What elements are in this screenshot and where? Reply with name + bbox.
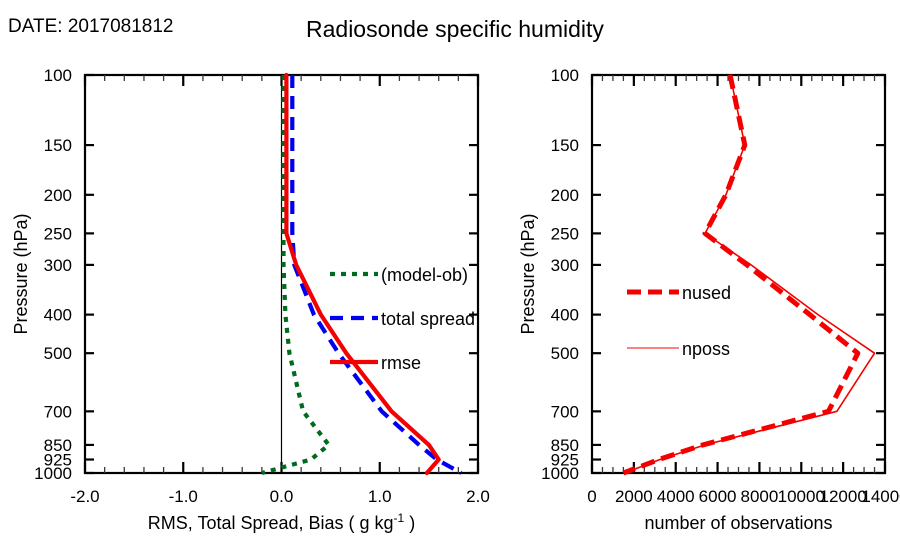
y-tick-label: 500 xyxy=(551,344,579,363)
y-tick-label: 250 xyxy=(551,224,579,243)
x-tick-label: 2000 xyxy=(615,487,653,506)
x-tick-label: 14000 xyxy=(861,487,900,506)
x-tick-label: 2.0 xyxy=(466,487,490,506)
y-tick-label: 200 xyxy=(44,186,72,205)
y-tick-label: 300 xyxy=(551,256,579,275)
x-axis-title: RMS, Total Spread, Bias ( g kg-1 ) xyxy=(148,511,415,533)
x-axis-title: number of observations xyxy=(644,513,832,533)
x-tick-label: 6000 xyxy=(699,487,737,506)
y-tick-label: 1000 xyxy=(34,464,72,483)
curve-bias xyxy=(262,75,329,473)
left-legend-label: rmse xyxy=(381,353,421,373)
x-tick-label: 8000 xyxy=(741,487,779,506)
x-tick-label: 1.0 xyxy=(368,487,392,506)
x-tick-label: 4000 xyxy=(657,487,695,506)
x-tick-label: 0.0 xyxy=(270,487,294,506)
x-tick-label: 0 xyxy=(587,487,596,506)
y-tick-label: 100 xyxy=(551,66,579,85)
plots-svg: 1001502002503004005007008509251000Pressu… xyxy=(0,0,900,560)
y-tick-label: 1000 xyxy=(541,464,579,483)
right-legend-label: nused xyxy=(682,283,731,303)
chart-page: DATE: 2017081812 Radiosonde specific hum… xyxy=(0,0,900,560)
y-tick-label: 150 xyxy=(44,136,72,155)
left-legend-label: (model-ob) xyxy=(381,265,468,285)
curve-nposs xyxy=(624,75,874,473)
y-tick-label: 100 xyxy=(44,66,72,85)
y-tick-label: 150 xyxy=(551,136,579,155)
y-axis-title: Pressure (hPa) xyxy=(518,213,538,334)
x-tick-label: 10000 xyxy=(778,487,825,506)
y-tick-label: 700 xyxy=(44,402,72,421)
y-tick-label: 500 xyxy=(44,344,72,363)
plot-frame xyxy=(592,75,885,473)
x-tick-label: 12000 xyxy=(820,487,867,506)
y-tick-label: 700 xyxy=(551,402,579,421)
curve-nused xyxy=(623,75,857,473)
panel-left-panel: 1001502002503004005007008509251000Pressu… xyxy=(11,66,490,533)
y-tick-label: 200 xyxy=(551,186,579,205)
y-axis-title: Pressure (hPa) xyxy=(11,213,31,334)
left-legend-label: total spread xyxy=(381,309,475,329)
y-tick-label: 250 xyxy=(44,224,72,243)
x-tick-label: -1.0 xyxy=(169,487,198,506)
right-legend: nusednposs xyxy=(627,283,731,359)
x-tick-label: -2.0 xyxy=(70,487,99,506)
y-tick-label: 300 xyxy=(44,256,72,275)
right-legend-label: nposs xyxy=(682,339,730,359)
y-tick-label: 400 xyxy=(44,306,72,325)
y-tick-label: 400 xyxy=(551,306,579,325)
